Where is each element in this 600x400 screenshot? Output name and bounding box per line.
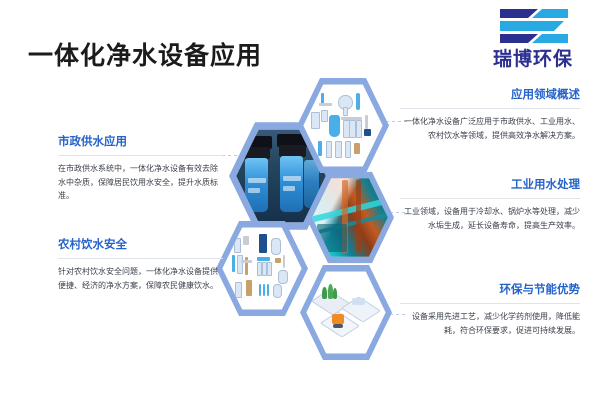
block-heading: 环保与节能优势 (400, 283, 580, 298)
content-block-municipal: 市政供水应用 在市政供水系统中，一体化净水设备有效去除水中杂质，保障居民饮用水安… (58, 135, 223, 203)
block-heading: 应用领域概述 (400, 88, 580, 103)
block-divider (400, 303, 580, 304)
block-divider (400, 198, 580, 199)
industrial-piping-plant-photo (312, 177, 388, 259)
slide-canvas: 一体化净水设备应用 瑞博环保 (0, 0, 600, 400)
content-block-industrial: 工业用水处理 工业领域，设备用于冷却水、锅炉水等处理，减少水垢生成，延长设备寿命… (400, 178, 580, 232)
hexagon-image-inner (222, 226, 301, 311)
block-body: 工业领域，设备用于冷却水、锅炉水等处理，减少水垢生成，延长设备寿命，提高生产效率… (400, 205, 580, 232)
hexagon-image-inner (306, 270, 385, 355)
hexagon-isometric-eco-water-illustration (300, 263, 392, 362)
block-divider (58, 258, 223, 259)
block-heading: 工业用水处理 (400, 178, 580, 193)
content-block-eco: 环保与节能优势 设备采用先进工艺，减少化学药剂使用，降低能耗，符合环保要求，促进… (400, 283, 580, 337)
page-title: 一体化净水设备应用 (28, 36, 262, 72)
isometric-eco-water-illustration (306, 270, 385, 355)
block-heading: 市政供水应用 (58, 135, 223, 150)
ruibo-huanbao-logo-mark (498, 8, 570, 44)
block-heading: 农村饮水安全 (58, 238, 223, 253)
block-body: 一体化净水设备广泛应用于市政供水、工业用水、农村饮水等领域，提供高效净水解决方案… (400, 115, 580, 142)
content-block-rural: 农村饮水安全 针对农村饮水安全问题，一体化净水设备提供便捷、经济的净水方案，保障… (58, 238, 223, 292)
water-treatment-product-icons (222, 226, 301, 311)
hexagon-image-inner (312, 177, 388, 259)
logo-text: 瑞博环保 (474, 44, 592, 71)
block-body: 设备采用先进工艺，减少化学药剂使用，降低能耗，符合环保要求，促进可持续发展。 (400, 310, 580, 337)
company-logo: 瑞博环保 (474, 6, 592, 74)
content-block-overview: 应用领域概述 一体化净水设备广泛应用于市政供水、工业用水、农村饮水等领域，提供高… (400, 88, 580, 142)
block-divider (400, 108, 580, 109)
block-divider (58, 155, 223, 156)
block-body: 针对农村饮水安全问题，一体化净水设备提供便捷、经济的净水方案，保障农民健康饮水。 (58, 265, 223, 292)
block-body: 在市政供水系统中，一体化净水设备有效去除水中杂质，保障居民饮用水安全，提升水质标… (58, 162, 223, 203)
hexagon-image-inner (303, 83, 382, 168)
hexagon-water-treatment-product-icons (216, 219, 308, 318)
water-purification-equipment-icons (303, 83, 382, 168)
